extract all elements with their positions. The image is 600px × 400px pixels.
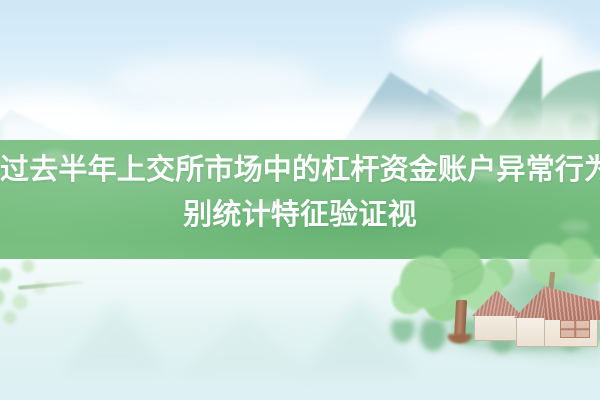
tree-trunk [454,300,467,342]
page-title: 过去半年上交所市场中的杠杆资金账户异常行为识 别统计特征验证视 [0,148,600,238]
title-line-2: 别统计特征验证视 [0,193,600,238]
background-tree-canopy [520,236,600,292]
cottage [468,286,600,348]
house-window [560,320,590,338]
water-reflection [175,312,315,378]
left-foliage-sprig [0,252,82,330]
landscape-banner: 过去半年上交所市场中的杠杆资金账户异常行为识 别统计特征验证视 [0,0,600,400]
title-line-1: 过去半年上交所市场中的杠杆资金账户异常行为识 [0,148,600,193]
house-wall-left [474,315,520,341]
house-wall-middle [516,317,546,347]
